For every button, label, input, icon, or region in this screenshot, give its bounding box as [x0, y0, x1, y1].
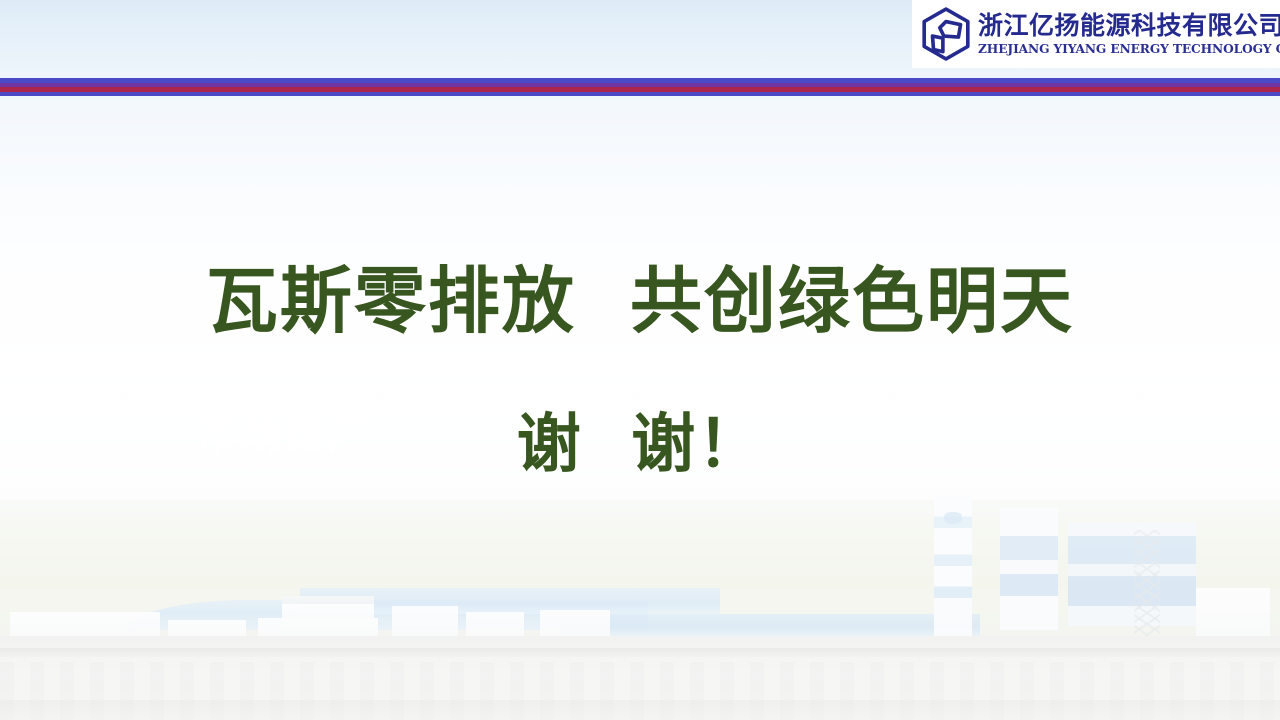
rail-road-line [0, 648, 1280, 657]
slide-thanks-text: 谢 谢！ [0, 406, 1280, 484]
hexagon-crystal-logo-icon [920, 7, 972, 61]
foreground-strip [0, 700, 1280, 720]
company-logo-text: 浙江亿扬能源科技有限公司 ZHEJIANG YIYANG ENERGY TECH… [978, 11, 1280, 57]
company-name-cn: 浙江亿扬能源科技有限公司 [978, 11, 1280, 41]
slide-headline: 瓦斯零排放 共创绿色明天 [0, 258, 1280, 344]
presentation-slide: 市场推广 浙江亿扬能源科技有限公司 ZHEJIANG YIYANG ENERGY… [0, 0, 1280, 720]
plant-block-blue [1068, 522, 1196, 626]
conveyor-gallery-right [560, 614, 980, 636]
company-logo-plate: 浙江亿扬能源科技有限公司 ZHEJIANG YIYANG ENERGY TECH… [912, 0, 1280, 68]
plant-tower-blue [1000, 508, 1058, 630]
company-name-en: ZHEJIANG YIYANG ENERGY TECHNOLOGY CO., L… [978, 41, 1280, 57]
chimney-logo-icon [944, 512, 962, 524]
tricolor-divider [0, 78, 1280, 96]
divider-blue-bottom [0, 92, 1280, 96]
background-photo [0, 0, 1280, 720]
